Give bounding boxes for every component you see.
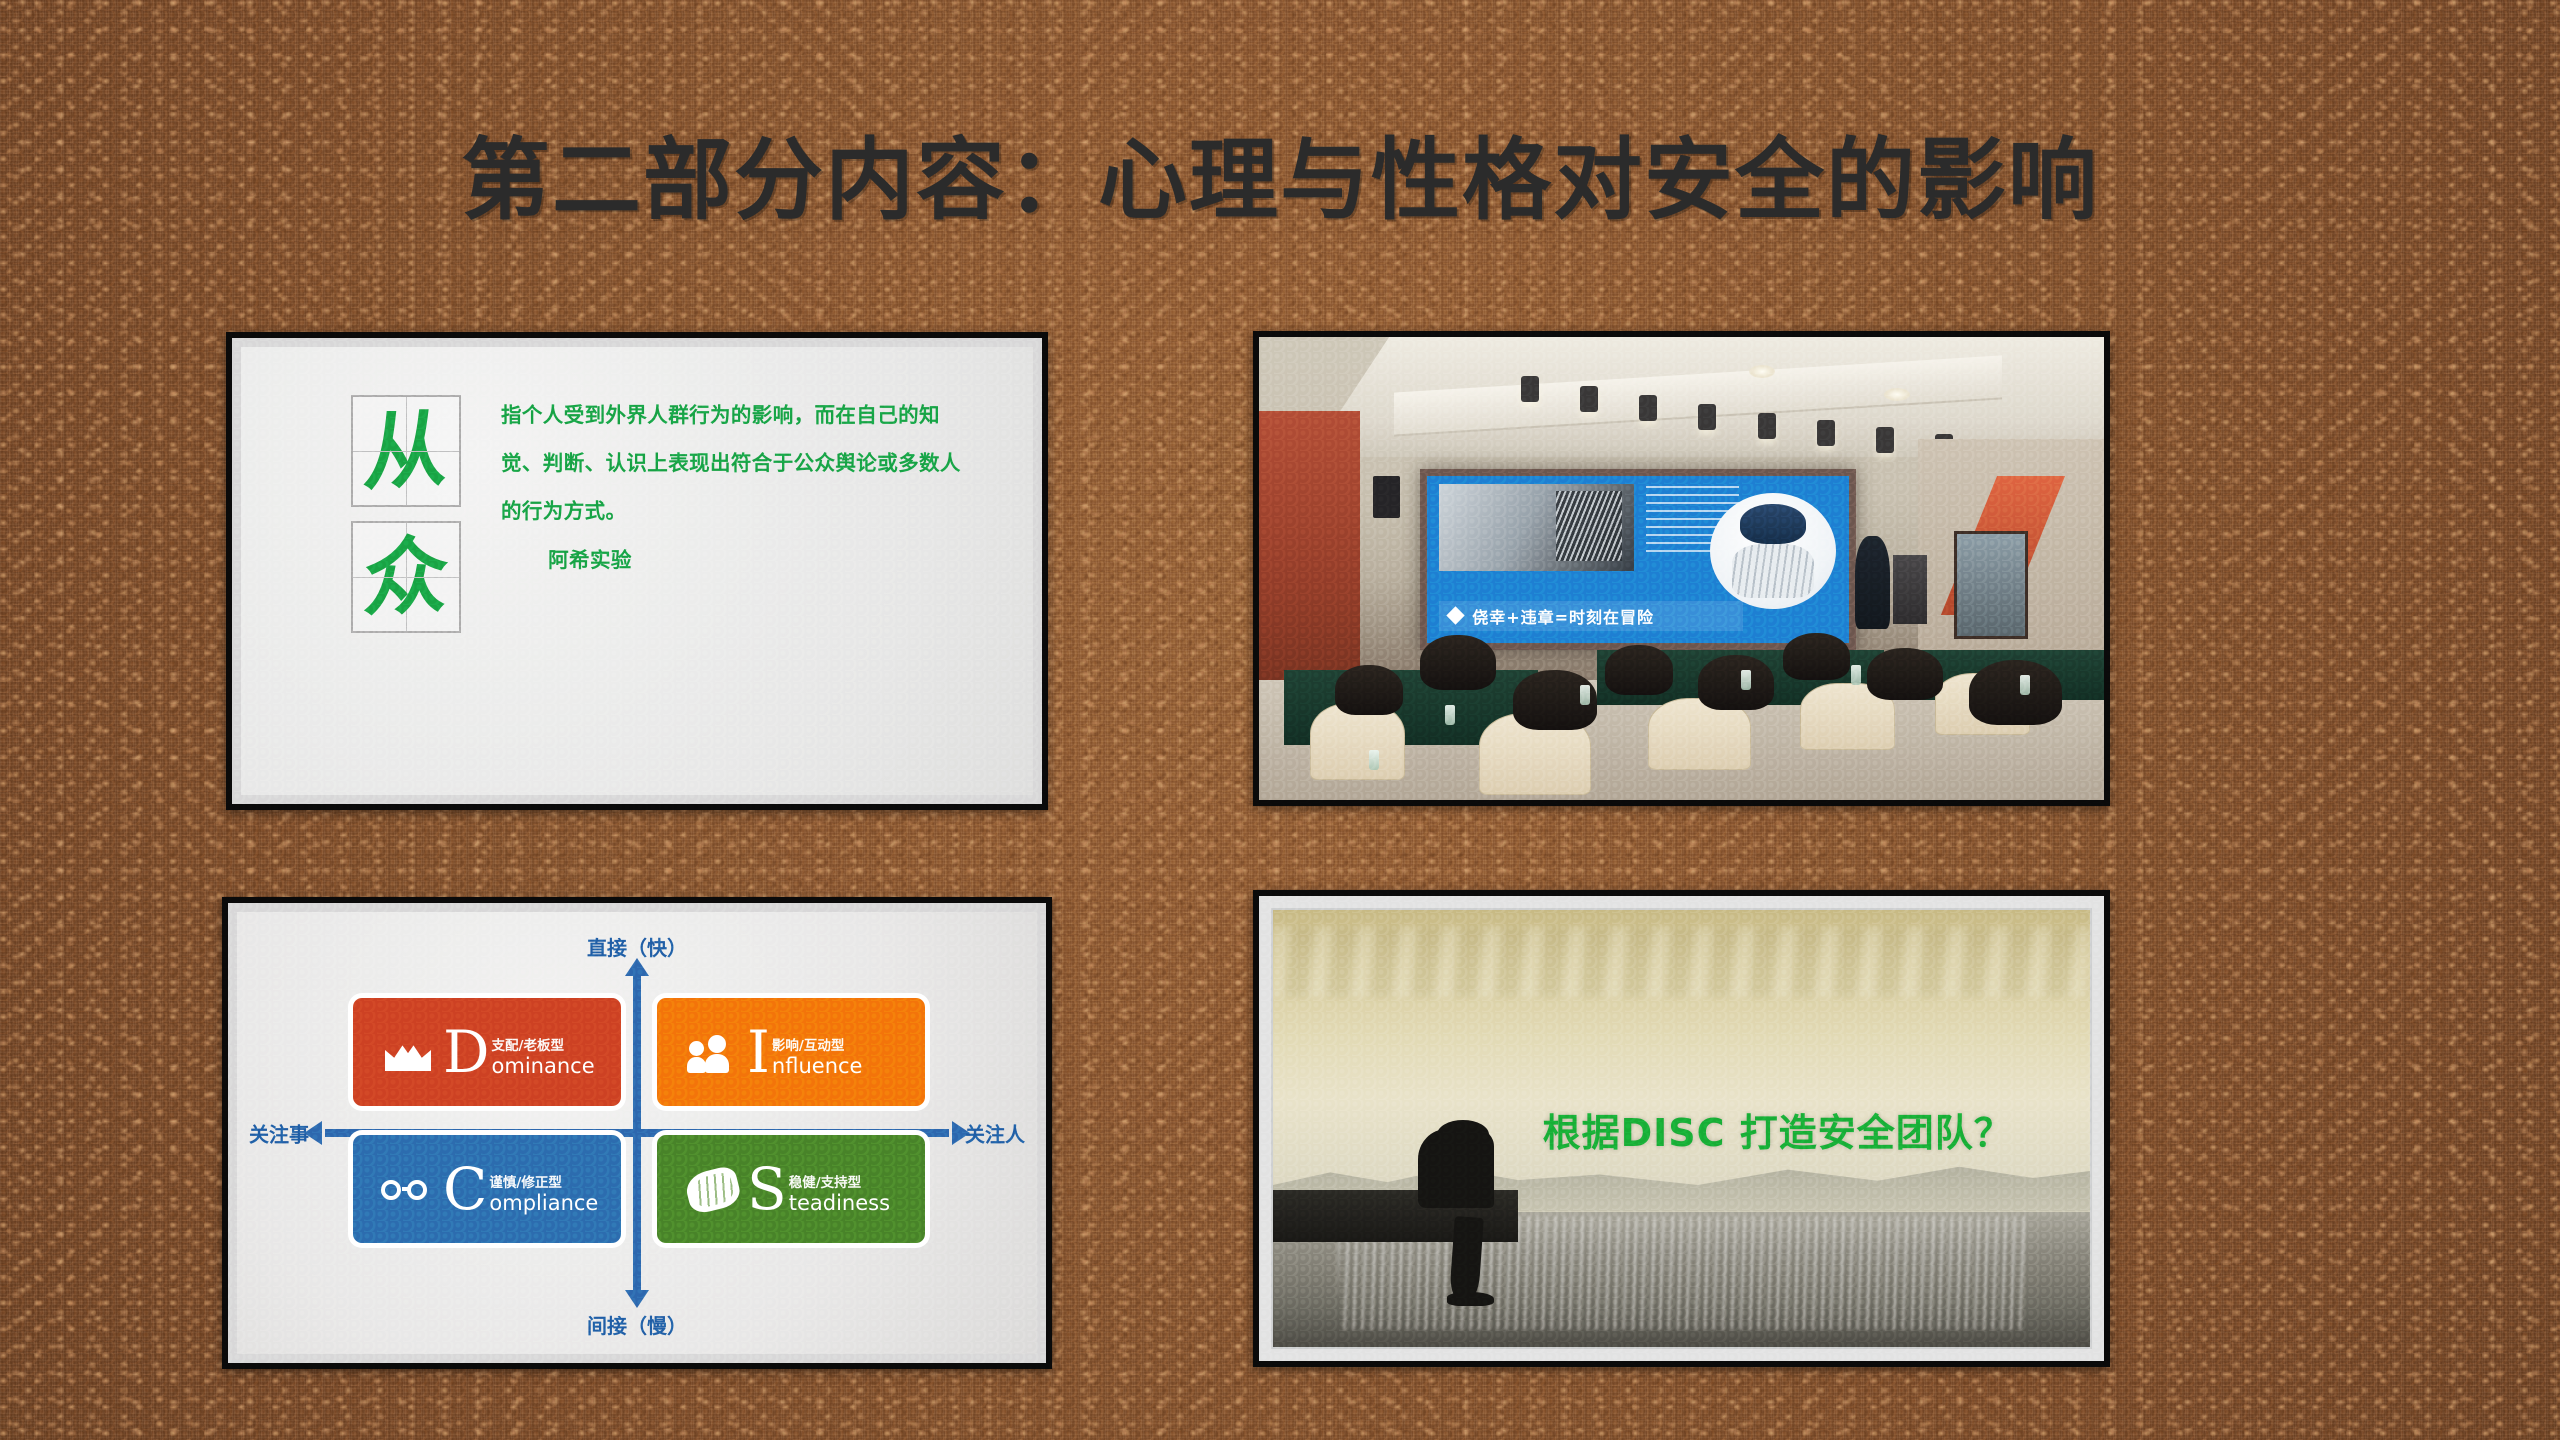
water-bottle: [2020, 675, 2030, 695]
water-bottle: [1445, 705, 1455, 725]
people-icon: [681, 1027, 743, 1077]
water-bottle: [1580, 685, 1590, 705]
helmet-icon: [1740, 504, 1806, 544]
spotlight-icon: [1758, 413, 1776, 439]
axis-label-top: 直接（快）: [587, 932, 687, 961]
axis-label-bottom: 间接（慢）: [587, 1310, 687, 1339]
disc-quadrant-steadiness[interactable]: S 稳健/支持型 teadiness: [657, 1135, 925, 1243]
team-photo: 根据DISC 打造安全团队？: [1271, 908, 2092, 1349]
arrow-up-icon: [625, 958, 649, 976]
water-bottle: [1369, 750, 1379, 770]
spotlight-icon: [1817, 420, 1835, 446]
water-bottle: [1741, 670, 1751, 690]
calligraphy-char-cong: 从: [350, 394, 462, 507]
attendee-head: [1420, 635, 1496, 690]
attendee-head: [1698, 655, 1774, 710]
downlight-icon: [1884, 388, 1910, 401]
quadrant-letter-d: D: [443, 1028, 490, 1077]
definition-line-1: 指个人受到外界人群行为的影响，而在自己的知: [501, 391, 1007, 439]
calligraphy-grid: 从 众: [351, 395, 467, 647]
attendee-head: [1335, 665, 1403, 715]
water-bottle: [1851, 665, 1861, 685]
panel-mat: 根据DISC 打造安全团队？: [1259, 896, 2104, 1361]
downlight-icon: [1749, 365, 1775, 378]
panel-team-photo[interactable]: 根据DISC 打造安全团队？: [1253, 890, 2110, 1367]
panel-conformity-slide[interactable]: 从 众 指个人受到外界人群行为的影响，而在自己的知 觉、判断、认识上表现出符合于…: [226, 332, 1048, 810]
spotlight-icon: [1876, 427, 1894, 453]
glasses-icon: [377, 1164, 439, 1214]
quadrant-en-label-c: ompliance: [489, 1192, 598, 1214]
quadrant-letter-i: I: [747, 1028, 770, 1077]
definition-line-3: 的行为方式。: [501, 487, 1007, 535]
panel-mat: 直接（快） 间接（慢） 关注事 关注人 D 支配/老板型 ominance: [228, 903, 1046, 1363]
speaker-icon: [1373, 476, 1400, 518]
attendee-head: [1605, 645, 1673, 695]
audience-group: [1259, 550, 2104, 800]
axis-label-right: 关注人: [965, 1119, 1025, 1148]
quadrant-en-label-d: ominance: [492, 1055, 595, 1077]
attendee-head: [1783, 633, 1851, 681]
slide-canvas: 第二部分内容：心理与性格对安全的影响 从 众 指个人受到外界人群行为的影响，而在…: [0, 0, 2560, 1440]
spotlight-icon: [1521, 376, 1539, 402]
spotlight-icon: [1639, 395, 1657, 421]
crown-icon: [377, 1027, 439, 1077]
quadrant-cn-label-i: 影响/互动型: [772, 1039, 863, 1054]
definition-line-2: 觉、判断、认识上表现出符合于公众舆论或多数人: [501, 439, 1007, 487]
hands-icon: [681, 1164, 743, 1214]
panel-training-photo[interactable]: 侥幸+违章=时刻在冒险: [1253, 331, 2110, 806]
definition-line-4: 阿希实验: [501, 536, 1007, 584]
conformity-slide-body: 从 众 指个人受到外界人群行为的影响，而在自己的知 觉、判断、认识上表现出符合于…: [241, 347, 1033, 795]
quadrant-cn-label-d: 支配/老板型: [492, 1039, 595, 1054]
training-room-photo: 侥幸+违章=时刻在冒险: [1259, 337, 2104, 800]
quadrant-cn-label-c: 谨慎/修正型: [489, 1176, 598, 1191]
disc-quadrant-dominance[interactable]: D 支配/老板型 ominance: [353, 998, 621, 1106]
attendee-head: [1969, 660, 2062, 725]
disc-quadrant-compliance[interactable]: C 谨慎/修正型 ompliance: [353, 1135, 621, 1243]
spotlight-icon: [1580, 386, 1598, 412]
spotlight-icon: [1698, 404, 1716, 430]
silhouette-torso: [1418, 1129, 1494, 1209]
disc-quadrant-influence[interactable]: I 影响/互动型 nfluence: [657, 998, 925, 1106]
clouds: [1273, 927, 2090, 997]
quadrant-letter-c: C: [443, 1165, 487, 1214]
arrow-down-icon: [625, 1290, 649, 1308]
silhouette-foot: [1447, 1292, 1494, 1306]
quadrant-en-label-s: teadiness: [789, 1192, 890, 1214]
team-overlay-text: 根据DISC 打造安全团队？: [1543, 1102, 2013, 1157]
page-title: 第二部分内容：心理与性格对安全的影响: [0, 136, 2560, 225]
disc-diagram: 直接（快） 间接（慢） 关注事 关注人 D 支配/老板型 ominance: [237, 912, 1037, 1354]
conformity-definition-text: 指个人受到外界人群行为的影响，而在自己的知 觉、判断、认识上表现出符合于公众舆论…: [501, 391, 1007, 584]
attendee-head: [1867, 648, 1943, 701]
quadrant-en-label-i: nfluence: [772, 1055, 863, 1077]
panel-disc-diagram[interactable]: 直接（快） 间接（慢） 关注事 关注人 D 支配/老板型 ominance: [222, 897, 1052, 1369]
calligraphy-char-zhong: 众: [350, 520, 462, 633]
panel-mat: 从 众 指个人受到外界人群行为的影响，而在自己的知 觉、判断、认识上表现出符合于…: [232, 338, 1042, 804]
seated-person-silhouette: [1396, 1120, 1519, 1234]
character-box-2: 众: [351, 521, 461, 633]
quadrant-letter-s: S: [747, 1165, 787, 1214]
axis-label-left: 关注事: [249, 1119, 309, 1148]
quadrant-cn-label-s: 稳健/支持型: [789, 1176, 890, 1191]
character-box-1: 从: [351, 395, 461, 507]
